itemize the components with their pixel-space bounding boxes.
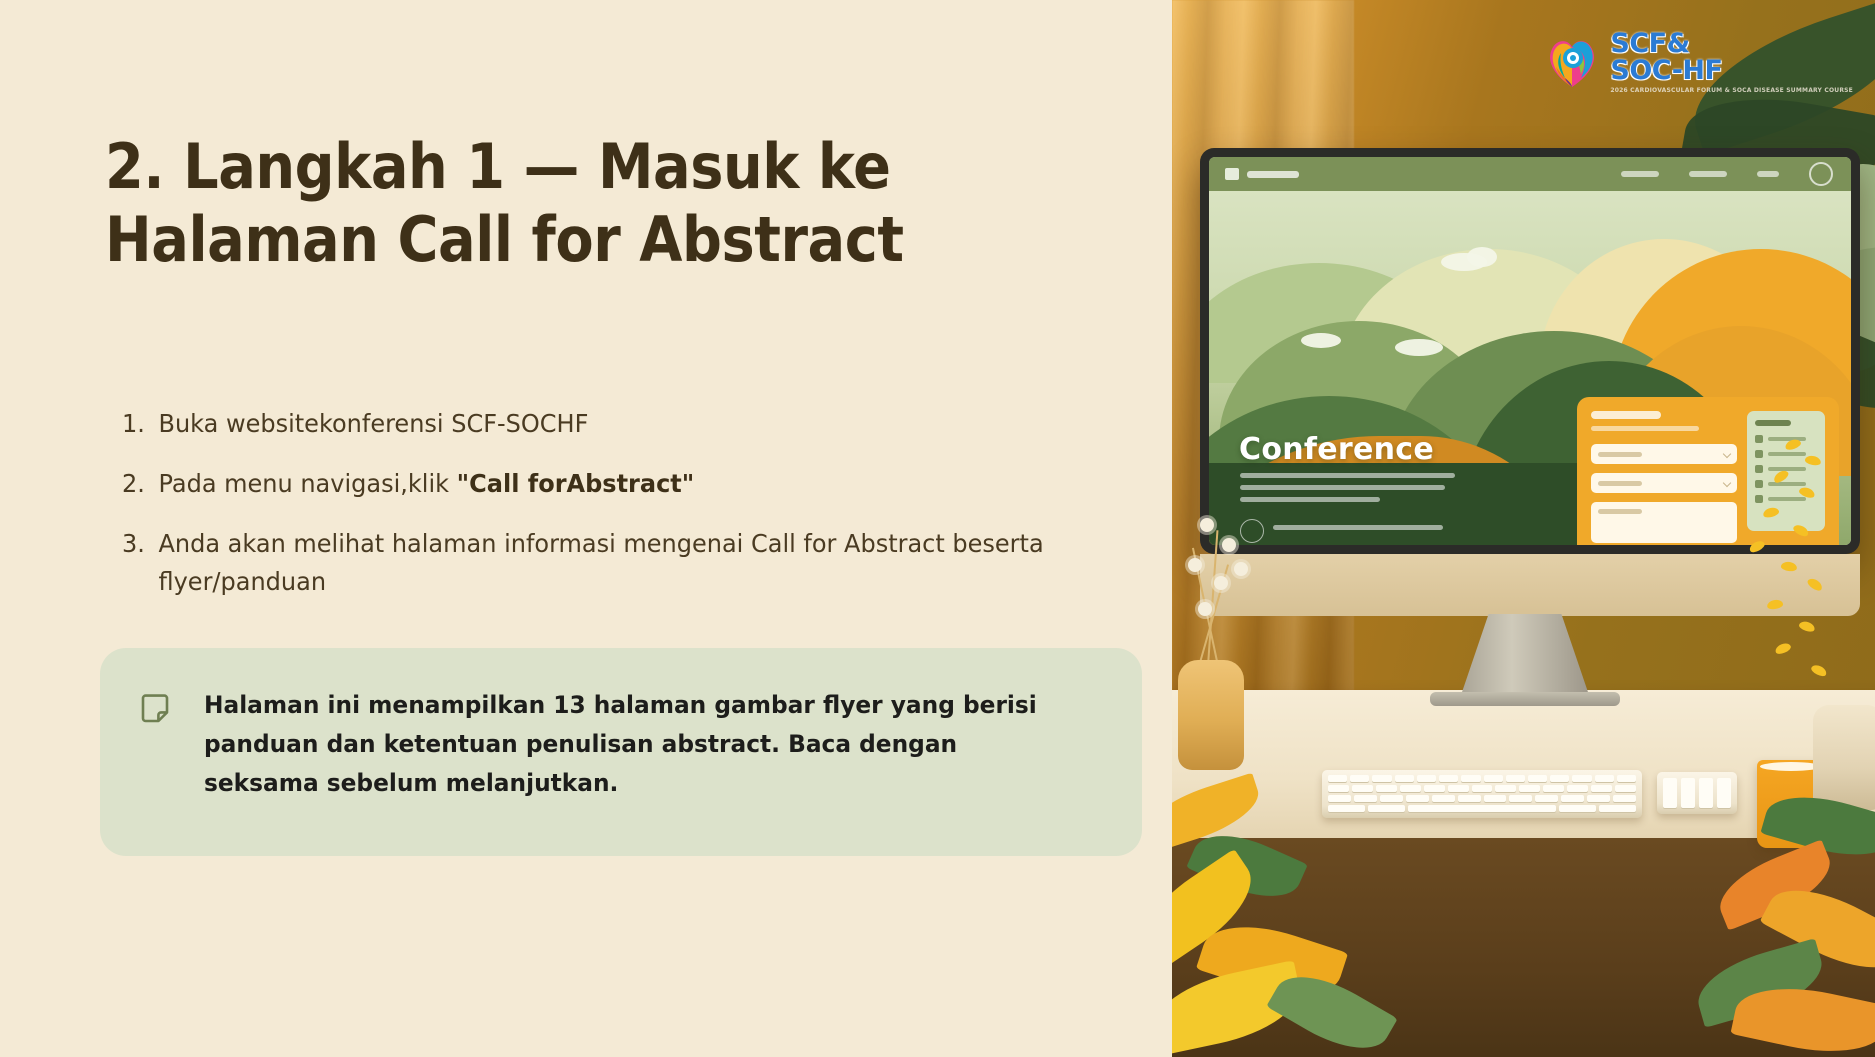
nav-link-2[interactable] (1689, 171, 1727, 177)
page-title: 2. Langkah 1 — Masuk ke Halaman Call for… (105, 130, 969, 276)
logo-line-1: SCF& (1610, 30, 1853, 57)
step-text-plain: Pada menu navigasi,klik (158, 469, 456, 498)
hero-badge (1240, 519, 1443, 543)
content-pane: 2. Langkah 1 — Masuk ke Halaman Call for… (0, 0, 1172, 1057)
step-number: 1. (122, 405, 158, 443)
photo-panel: Conference (1172, 0, 1875, 1057)
scf-sochf-logo-icon (1543, 33, 1601, 91)
site-navbar (1209, 157, 1851, 191)
step-number: 2. (122, 465, 158, 503)
list-item: 1. Buka websitekonferensi SCF-SOCHF (122, 405, 1063, 443)
keyboard (1322, 770, 1642, 818)
side-list-title-placeholder (1755, 420, 1791, 426)
step-text: Anda akan melihat halaman informasi meng… (158, 525, 1062, 601)
logo-subtitle: 2026 CARDIOVASCULAR FORUM & SOCA DISEASE… (1610, 87, 1853, 95)
step-text-plain: Anda akan melihat halaman informasi meng… (158, 529, 1043, 596)
hero-paragraph-placeholder (1240, 473, 1460, 509)
yellow-branch-plant (1715, 430, 1865, 730)
badge-label-placeholder (1273, 525, 1443, 530)
nav-link-3[interactable] (1757, 171, 1779, 177)
note-icon (140, 694, 170, 724)
slide-root: 2. Langkah 1 — Masuk ke Halaman Call for… (0, 0, 1875, 1057)
logo-text: SCF& SOC-HF 2026 CARDIOVASCULAR FORUM & … (1610, 30, 1853, 95)
callout-box: Halaman ini menampilkan 13 halaman gamba… (100, 648, 1142, 856)
cloud-icon (1301, 333, 1341, 348)
vase (1178, 660, 1244, 770)
callout-text: Halaman ini menampilkan 13 halaman gamba… (204, 686, 1069, 803)
step-text-plain: Buka websitekonferensi SCF-SOCHF (158, 409, 588, 438)
step-text-emphasis: "Call forAbstract" (457, 469, 695, 498)
avatar[interactable] (1809, 162, 1833, 186)
logo-line-2: SOC-HF (1610, 57, 1853, 84)
list-item: 2. Pada menu navigasi,klik "Call forAbst… (122, 465, 1063, 503)
dried-flowers (1176, 510, 1266, 680)
vase (1813, 705, 1875, 810)
page-title-line-2: Halaman Call for Abstract (105, 203, 969, 276)
conference-logo: SCF& SOC-HF 2026 CARDIOVASCULAR FORUM & … (1543, 30, 1853, 95)
nav-link-1[interactable] (1621, 171, 1659, 177)
step-number: 3. (122, 525, 158, 563)
step-text: Buka websitekonferensi SCF-SOCHF (158, 405, 1062, 443)
list-item: 3. Anda akan melihat halaman informasi m… (122, 525, 1063, 601)
hero-title: Conference (1239, 432, 1434, 467)
cloud-icon (1467, 247, 1497, 267)
site-logo-icon (1225, 168, 1239, 180)
form-subtitle-placeholder (1591, 426, 1699, 431)
monitor-stand-base (1430, 692, 1620, 706)
form-title-placeholder (1591, 411, 1661, 419)
site-brand-placeholder (1247, 171, 1299, 178)
site-nav-links (1621, 162, 1833, 186)
numpad (1657, 772, 1737, 814)
page-title-line-1: 2. Langkah 1 — Masuk ke (105, 130, 969, 203)
step-text: Pada menu navigasi,klik "Call forAbstrac… (158, 465, 1062, 503)
step-list: 1. Buka websitekonferensi SCF-SOCHF 2. P… (122, 405, 1102, 623)
cloud-icon (1395, 339, 1443, 356)
